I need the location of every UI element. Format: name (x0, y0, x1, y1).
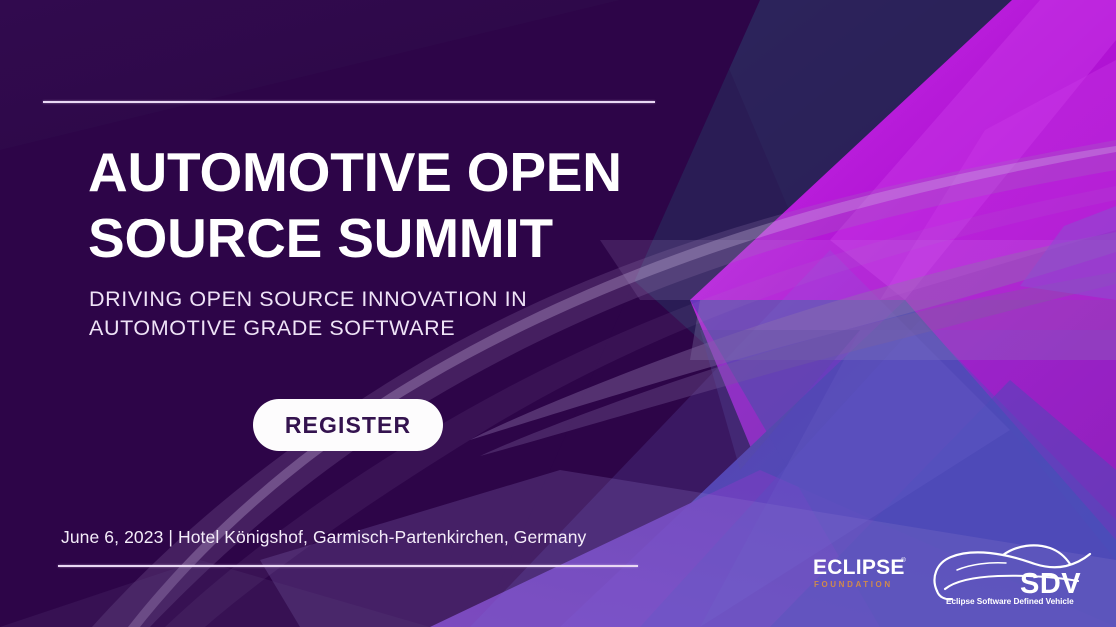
page-subtitle-line-1: DRIVING OPEN SOURCE INNOVATION IN (89, 285, 609, 314)
logo-cluster: ECLIPSE ® FOUNDATION SDV (780, 535, 1100, 610)
eclipse-foundation-logo[interactable]: ECLIPSE ® FOUNDATION (790, 545, 912, 593)
sdv-logo[interactable]: SDV Eclipse Software Defined Vehicle (928, 535, 1100, 607)
page-subtitle-line-2: AUTOMOTIVE GRADE SOFTWARE (89, 314, 609, 343)
sdv-wordmark: SDV (1020, 568, 1081, 600)
divider-bottom (58, 565, 638, 567)
page-title-line-1: AUTOMOTIVE OPEN (88, 139, 728, 205)
banner-content: AUTOMOTIVE OPEN SOURCE SUMMIT DRIVING OP… (0, 0, 1116, 627)
page-title: AUTOMOTIVE OPEN SOURCE SUMMIT (88, 139, 728, 271)
divider-top (43, 101, 655, 103)
sdv-tagline: Eclipse Software Defined Vehicle (946, 597, 1074, 606)
eclipse-tagline: FOUNDATION (814, 580, 893, 589)
register-button[interactable]: REGISTER (253, 399, 443, 451)
page-title-line-2: SOURCE SUMMIT (88, 205, 728, 271)
page-subtitle: DRIVING OPEN SOURCE INNOVATION IN AUTOMO… (89, 285, 609, 343)
eclipse-arc-icon (793, 552, 810, 586)
eclipse-registered-mark: ® (901, 556, 906, 564)
event-promo-banner: AUTOMOTIVE OPEN SOURCE SUMMIT DRIVING OP… (0, 0, 1116, 627)
eclipse-wordmark: ECLIPSE (813, 556, 905, 579)
event-details-line: June 6, 2023 | Hotel Königshof, Garmisch… (61, 527, 586, 548)
